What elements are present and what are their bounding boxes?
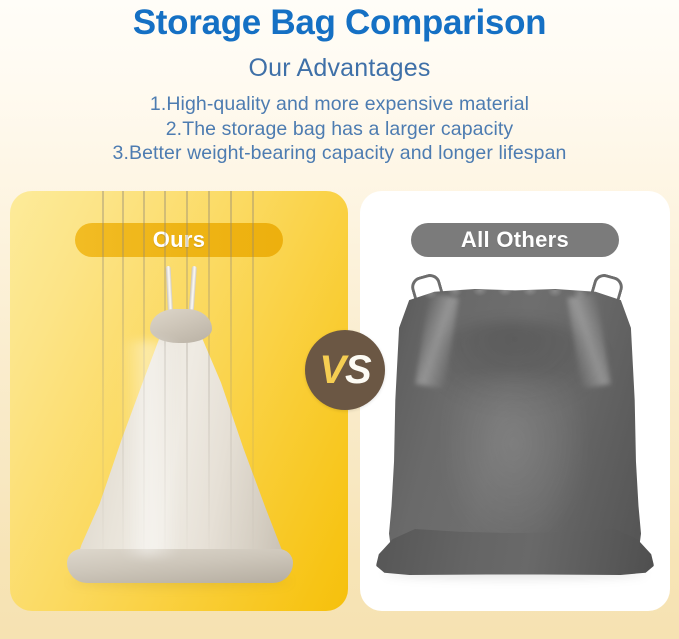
advantage-item-2: 2.The storage bag has a larger capacity: [0, 117, 679, 142]
header: Storage Bag Comparison Our Advantages 1.…: [0, 0, 679, 166]
ours-bag-pleat: [102, 191, 104, 611]
others-bag-bottom: [376, 529, 654, 575]
card-all-others: All Others: [360, 191, 670, 611]
badge-ours-label: Ours: [153, 227, 206, 253]
badge-all-others-label: All Others: [461, 227, 569, 253]
others-bag-body: [389, 289, 641, 567]
ours-bag-pleat: [164, 191, 166, 611]
page-subtitle: Our Advantages: [0, 44, 679, 83]
ours-bag-pleat: [230, 191, 232, 611]
comparison-infographic: Storage Bag Comparison Our Advantages 1.…: [0, 0, 679, 639]
ours-bag-pleat: [122, 191, 124, 611]
ours-bag-pleat: [186, 191, 188, 611]
ours-bag-bottom: [67, 549, 293, 583]
card-ours: DOREIMI Ours: [10, 191, 348, 611]
ours-bag-pleat: [252, 191, 254, 611]
advantage-item-3: 3.Better weight-bearing capacity and lon…: [0, 141, 679, 166]
ours-bag-neck: [150, 309, 212, 343]
ours-bag-pleat: [208, 191, 210, 611]
advantages-list: 1.High-quality and more expensive materi…: [0, 83, 679, 166]
badge-all-others[interactable]: All Others: [411, 223, 619, 257]
page-title: Storage Bag Comparison: [0, 0, 679, 44]
vs-badge: VS: [305, 330, 385, 410]
ours-bag-pleat: [143, 191, 145, 611]
vs-letter-v: V: [319, 350, 345, 390]
vs-letter-s: S: [345, 350, 371, 390]
advantage-item-1: 1.High-quality and more expensive materi…: [0, 92, 679, 117]
